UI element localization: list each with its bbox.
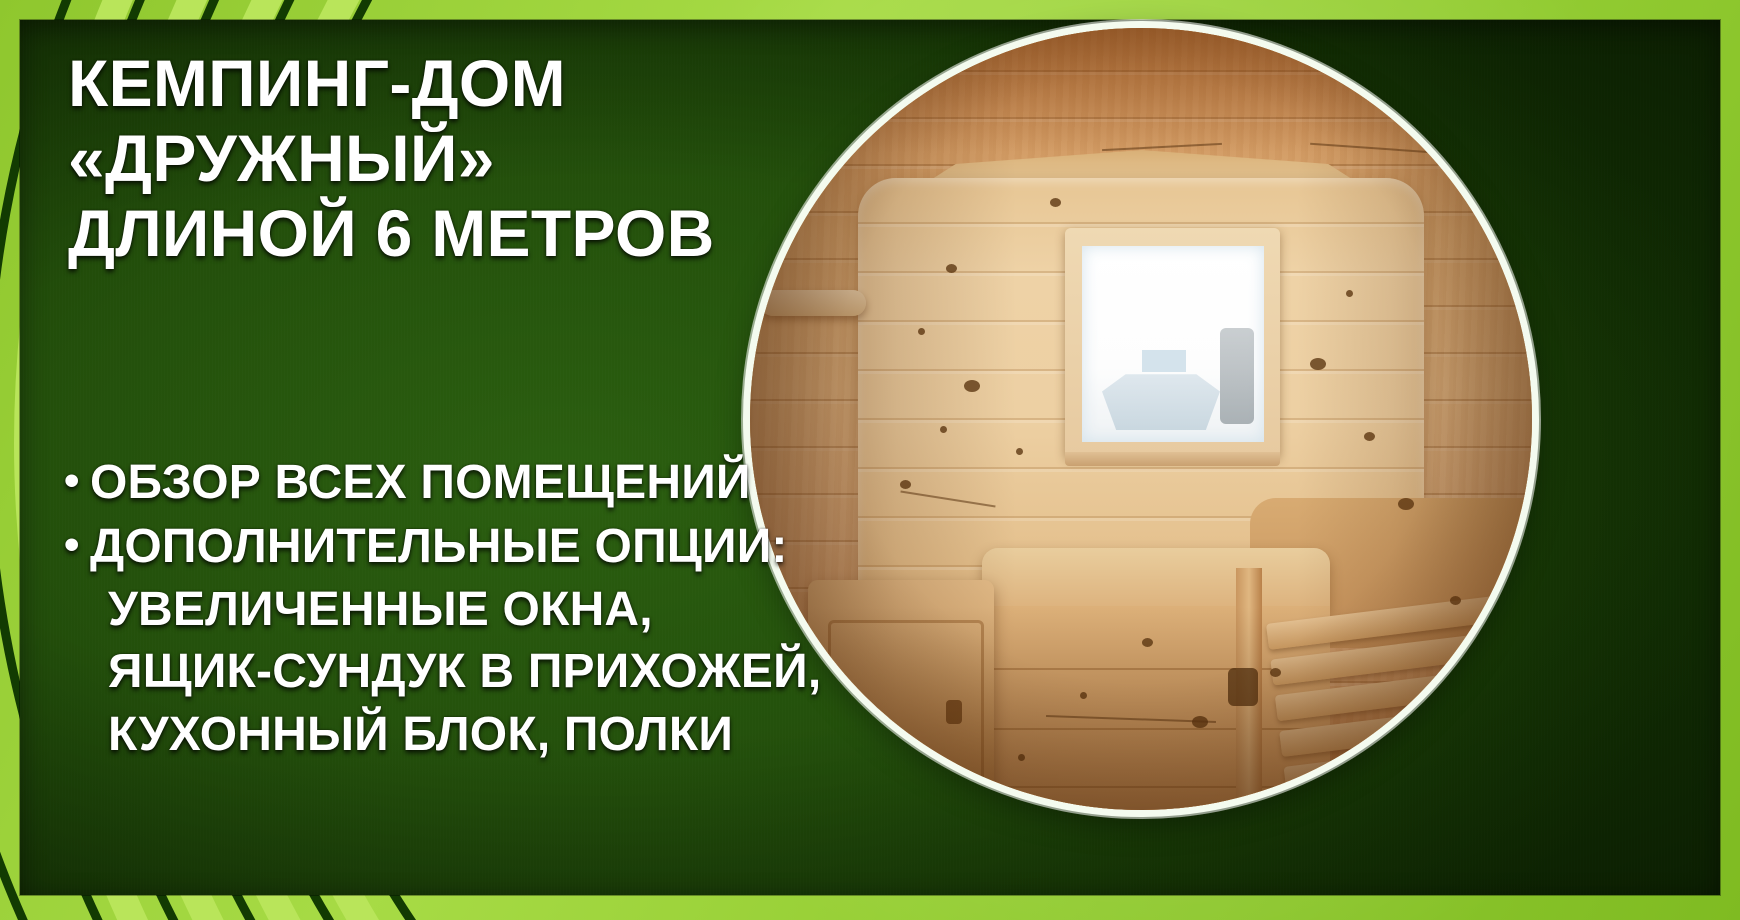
list-item-subline: УВЕЛИЧЕННЫЕ ОКНА,	[90, 579, 894, 641]
title-line-1: КЕМПИНГ-ДОМ	[68, 46, 868, 121]
list-item-subline: КУХОННЫЙ БЛОК, ПОЛКИ	[90, 704, 894, 766]
list-item-text: ОБЗОР ВСЕХ ПОМЕЩЕНИЙ	[90, 452, 894, 514]
promo-banner: КЕМПИНГ-ДОМ «ДРУЖНЫЙ» ДЛИНОЙ 6 МЕТРОВ • …	[0, 0, 1740, 920]
bullet-marker-icon: •	[64, 452, 90, 509]
list-item-subline: ЯЩИК-СУНДУК В ПРИХОЖЕЙ,	[90, 641, 894, 703]
list-item-head: ДОПОЛНИТЕЛЬНЫЕ ОПЦИИ:	[90, 516, 894, 578]
list-item: • ОБЗОР ВСЕХ ПОМЕЩЕНИЙ	[64, 452, 894, 514]
title-line-2: «ДРУЖНЫЙ»	[68, 121, 868, 196]
list-item-head: ОБЗОР ВСЕХ ПОМЕЩЕНИЙ	[90, 452, 894, 514]
list-item-text: ДОПОЛНИТЕЛЬНЫЕ ОПЦИИ: УВЕЛИЧЕННЫЕ ОКНА, …	[90, 516, 894, 766]
title-line-3: ДЛИНОЙ 6 МЕТРОВ	[68, 196, 868, 271]
bullet-marker-icon: •	[64, 516, 90, 573]
list-item: • ДОПОЛНИТЕЛЬНЫЕ ОПЦИИ: УВЕЛИЧЕННЫЕ ОКНА…	[64, 516, 894, 766]
headline-block: КЕМПИНГ-ДОМ «ДРУЖНЫЙ» ДЛИНОЙ 6 МЕТРОВ	[68, 46, 868, 272]
feature-list: • ОБЗОР ВСЕХ ПОМЕЩЕНИЙ • ДОПОЛНИТЕЛЬНЫЕ …	[64, 452, 894, 768]
